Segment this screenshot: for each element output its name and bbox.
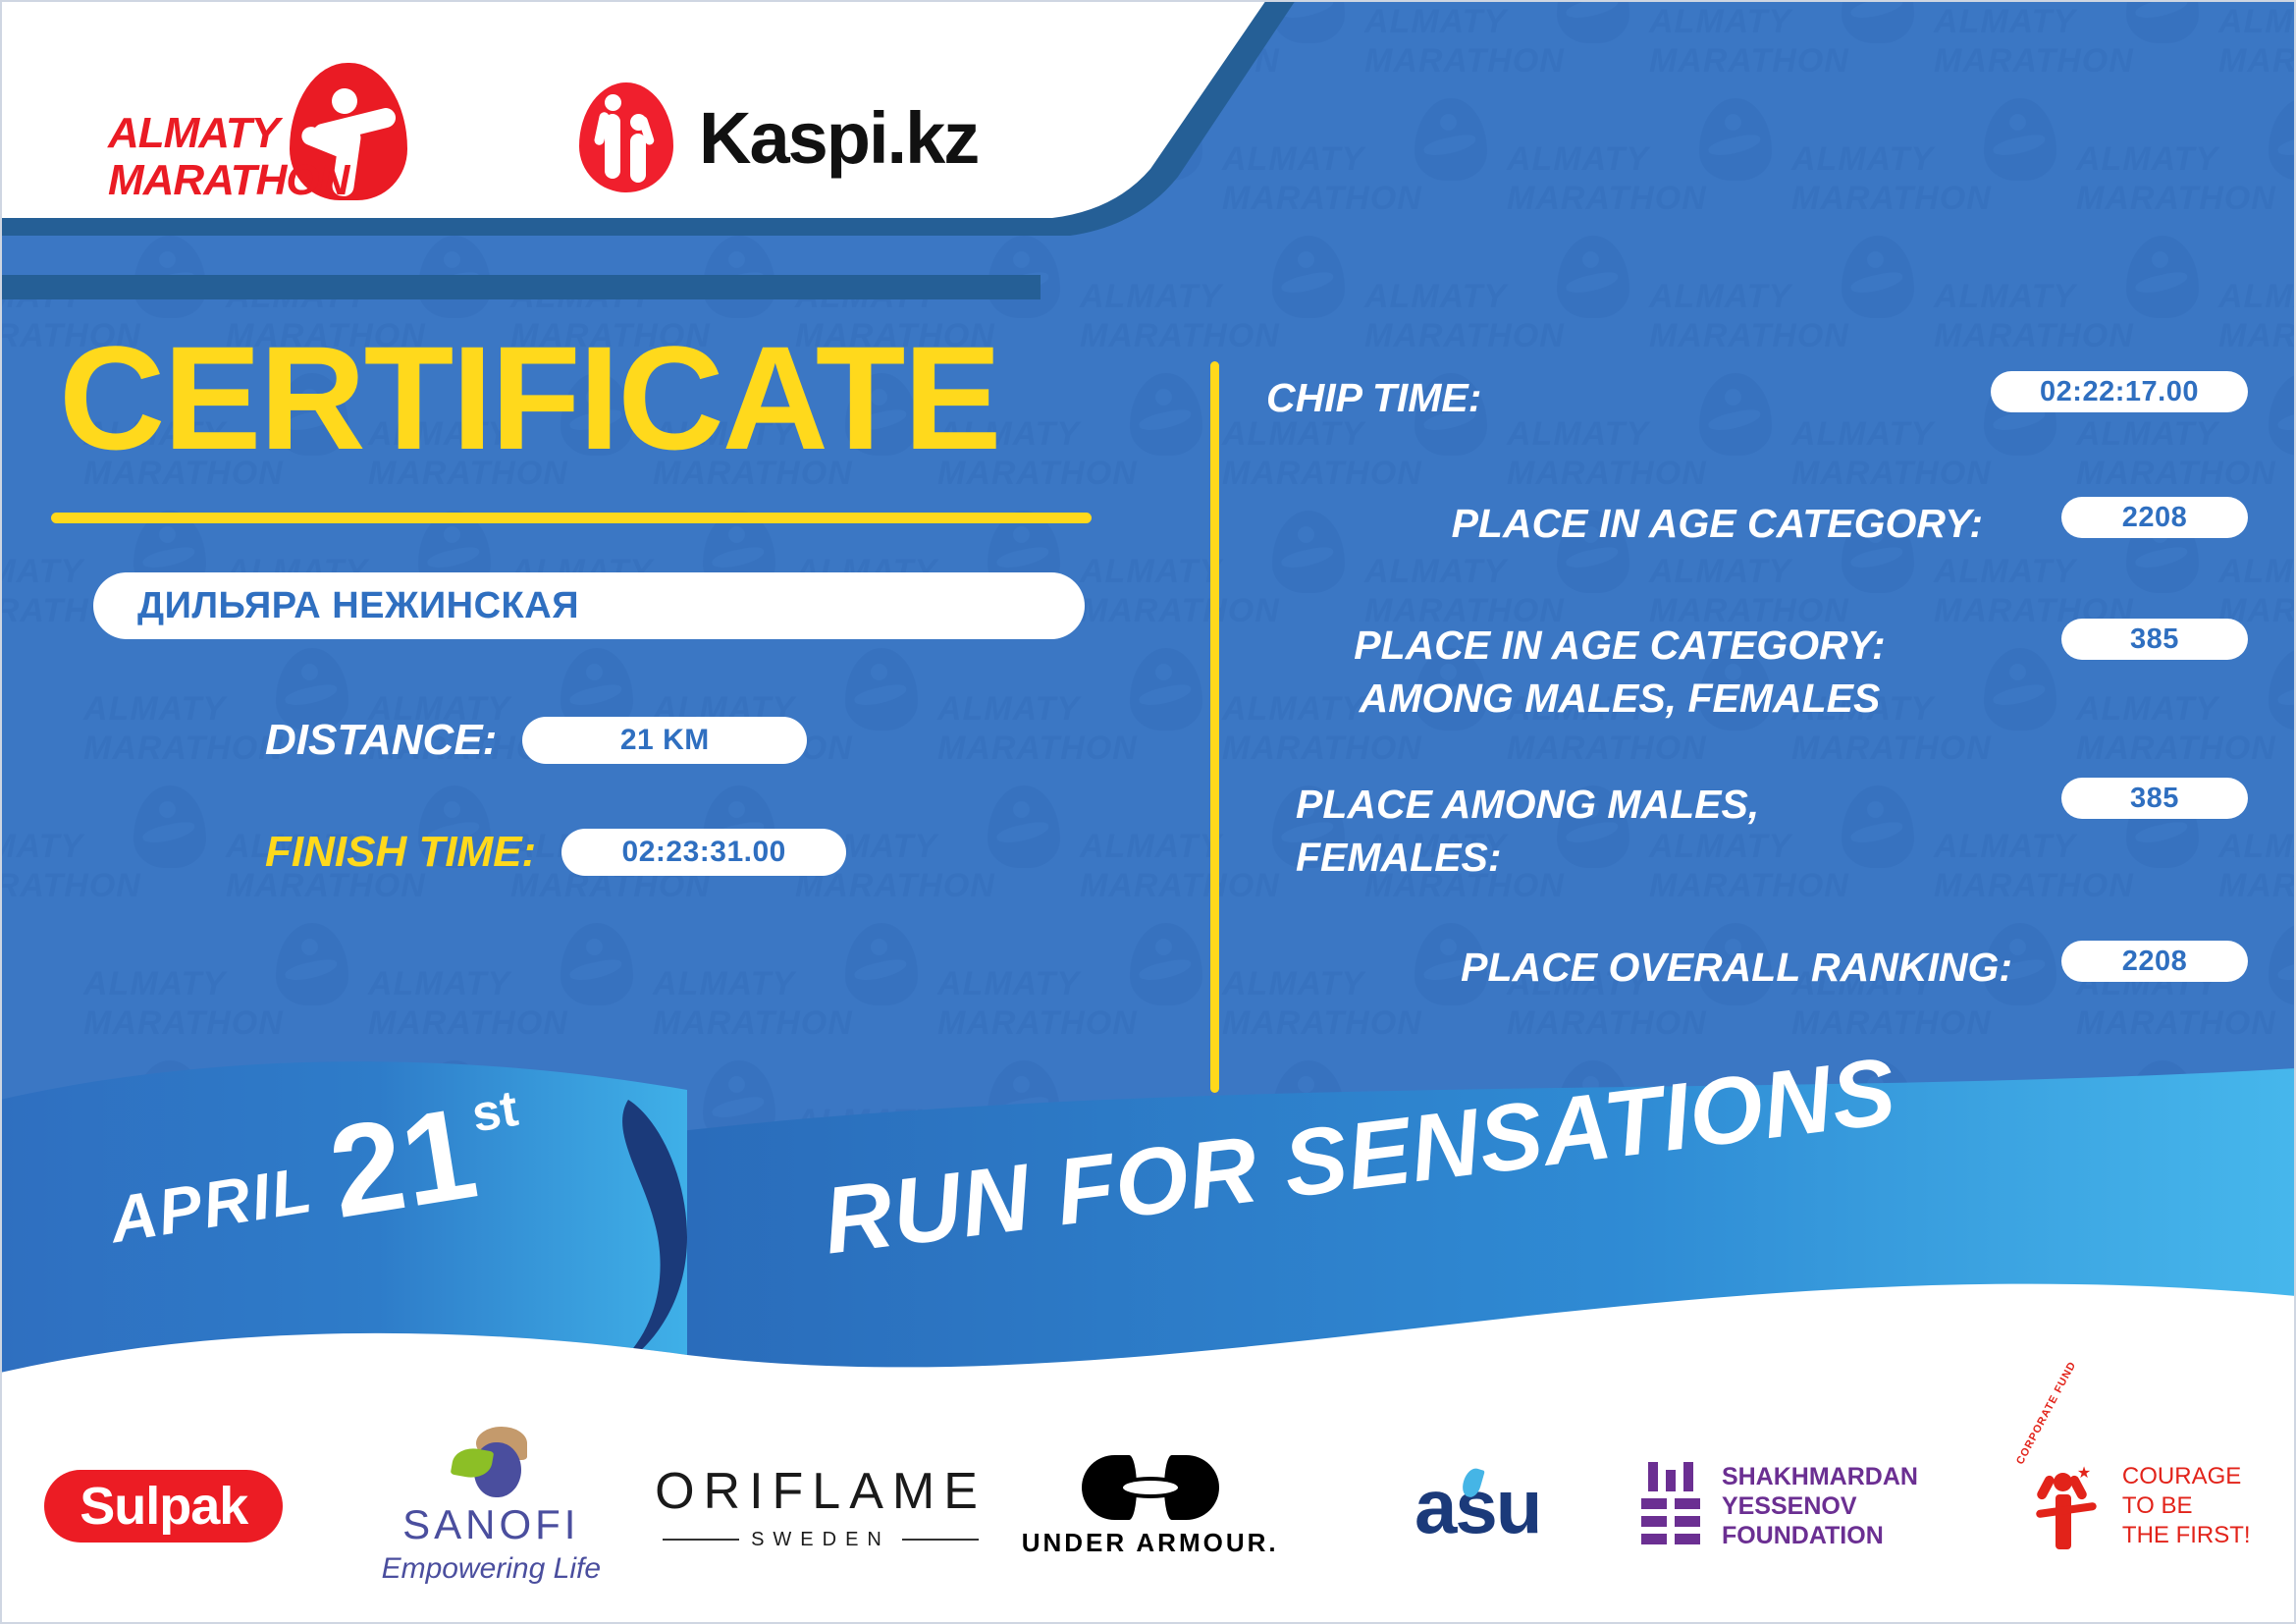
vertical-divider bbox=[1210, 361, 1219, 1093]
almaty-marathon-wordmark: ALMATY MARATHON bbox=[108, 110, 348, 204]
courage-line2: TO BE bbox=[2122, 1491, 2251, 1521]
almaty-marathon-line2: MARATHON bbox=[108, 157, 348, 204]
watermark-tile: ALMATYMARATHON bbox=[1934, 236, 2228, 383]
certificate-page: ALMATYMARATHONALMATYMARATHONALMATYMARATH… bbox=[0, 0, 2296, 1624]
chip-time-value: 02:22:17.00 bbox=[2040, 376, 2199, 408]
place-among-gender-value-pill: 385 bbox=[2061, 778, 2248, 819]
watermark-tile: ALMATYMARATHON bbox=[1791, 98, 2086, 245]
sponsor-sulpak: Sulpak bbox=[0, 1470, 328, 1543]
stat-row: PLACE IN AGE CATEGORY:AMONG MALES, FEMAL… bbox=[1266, 619, 2248, 727]
courage-line3: THE FIRST! bbox=[2122, 1521, 2251, 1550]
watermark-tile: ALMATYMARATHON bbox=[83, 923, 378, 1070]
sanofi-wordmark: SANOFI bbox=[382, 1501, 601, 1548]
place-among-gender-label: PLACE AMONG MALES,FEMALES: bbox=[1296, 778, 1845, 884]
watermark-tile: ALMATYMARATHON bbox=[2218, 236, 2296, 383]
place-among-gender-value: 385 bbox=[2130, 783, 2179, 815]
chip-time-label: CHIP TIME: bbox=[1266, 371, 1855, 424]
under-armour-wordmark: UNDER ARMOUR. bbox=[1022, 1528, 1279, 1558]
watermark-tile: ALMATYMARATHON bbox=[1934, 0, 2228, 108]
watermark-tile: ALMATYMARATHON bbox=[1649, 0, 1944, 108]
stat-row: PLACE IN AGE CATEGORY: 2208 bbox=[1266, 497, 2248, 562]
watermark-tile: ALMATYMARATHON bbox=[937, 923, 1232, 1070]
yessenov-line2: FOUNDATION bbox=[1722, 1521, 1969, 1550]
place-age-category-gender-value: 385 bbox=[2130, 623, 2179, 656]
sponsor-bar: Sulpak SANOFI Empowering Life ORIFLAME S… bbox=[0, 1388, 2296, 1624]
sponsor-under-armour: UNDER ARMOUR. bbox=[987, 1455, 1314, 1558]
watermark-tile: ALMATYMARATHON bbox=[653, 923, 947, 1070]
chip-time-value-pill: 02:22:17.00 bbox=[1991, 371, 2248, 412]
left-column: CERTIFICATE ДИЛЬЯРА НЕЖИНСКАЯ DISTANCE: … bbox=[0, 324, 1168, 883]
finish-time-label: FINISH TIME: bbox=[265, 828, 536, 877]
title-underline bbox=[51, 513, 1092, 523]
oriflame-subtext: SWEDEN bbox=[751, 1529, 890, 1551]
logo-bar: ALMATY MARATHON Kaspi.kz bbox=[0, 0, 1178, 275]
stats-column: CHIP TIME: 02:22:17.00 PLACE IN AGE CATE… bbox=[1266, 371, 2248, 1053]
under-armour-icon bbox=[1082, 1455, 1219, 1520]
yessenov-mark-icon bbox=[1641, 1462, 1700, 1551]
watermark-tile: ALMATYMARATHON bbox=[1364, 0, 1659, 108]
watermark-tile: ALMATYMARATHON bbox=[2218, 0, 2296, 108]
yessenov-line1: SHAKHMARDAN YESSENOV bbox=[1722, 1462, 1969, 1521]
sponsor-courage-fund: CORPORATE FUND ★ COURAGE TO BE THE FIRST… bbox=[1968, 1455, 2296, 1557]
watermark-tile: ALMATYMARATHON bbox=[2076, 98, 2296, 245]
asu-wordmark: asu bbox=[1415, 1462, 1540, 1551]
oriflame-rule-right bbox=[902, 1539, 979, 1541]
athlete-name-value: ДИЛЬЯРА НЕЖИНСКАЯ bbox=[137, 585, 579, 627]
kaspi-wordmark: Kaspi.kz bbox=[699, 96, 978, 180]
sponsor-sanofi: SANOFI Empowering Life bbox=[328, 1427, 656, 1586]
athlete-name-field: ДИЛЬЯРА НЕЖИНСКАЯ bbox=[93, 572, 1085, 639]
page-title: CERTIFICATE bbox=[59, 324, 1168, 471]
header-bottom-stripe bbox=[0, 275, 1041, 299]
distance-row: DISTANCE: 21 KM bbox=[0, 710, 1168, 771]
watermark-tile: ALMATYMARATHON bbox=[1507, 98, 1801, 245]
kaspi-logo: Kaspi.kz bbox=[579, 82, 978, 192]
place-overall-label: PLACE OVERALL RANKING: bbox=[1266, 941, 2012, 994]
watermark-tile: ALMATYMARATHON bbox=[1364, 236, 1659, 383]
sponsor-yessenov-foundation: SHAKHMARDAN YESSENOV FOUNDATION bbox=[1641, 1462, 1969, 1551]
sponsor-oriflame: ORIFLAME SWEDEN bbox=[655, 1462, 987, 1551]
oriflame-rule-left bbox=[663, 1539, 739, 1541]
event-day: 21 bbox=[324, 1099, 483, 1228]
sponsor-asu: asu bbox=[1313, 1462, 1641, 1551]
distance-value: 21 KM bbox=[620, 724, 710, 757]
place-age-category-label: PLACE IN AGE CATEGORY: bbox=[1266, 497, 1983, 550]
place-overall-value: 2208 bbox=[2122, 946, 2188, 978]
watermark-tile: ALMATYMARATHON bbox=[1649, 236, 1944, 383]
courage-figure-icon: CORPORATE FUND ★ bbox=[2014, 1455, 2109, 1557]
almaty-marathon-line1: ALMATY bbox=[108, 110, 348, 157]
distance-label: DISTANCE: bbox=[265, 716, 497, 765]
place-age-category-value: 2208 bbox=[2122, 502, 2188, 534]
stat-row: CHIP TIME: 02:22:17.00 bbox=[1266, 371, 2248, 436]
stat-row: PLACE OVERALL RANKING: 2208 bbox=[1266, 941, 2248, 1005]
sanofi-slogan: Empowering Life bbox=[382, 1552, 601, 1586]
finish-time-row: FINISH TIME: 02:23:31.00 bbox=[0, 822, 1168, 883]
stat-row: PLACE AMONG MALES,FEMALES: 385 bbox=[1266, 778, 2248, 886]
place-overall-value-pill: 2208 bbox=[2061, 941, 2248, 982]
place-age-category-gender-label: PLACE IN AGE CATEGORY:AMONG MALES, FEMAL… bbox=[1266, 619, 1973, 725]
finish-time-value-pill: 02:23:31.00 bbox=[561, 829, 846, 876]
courage-line1: COURAGE bbox=[2122, 1462, 2251, 1491]
watermark-tile: ALMATYMARATHON bbox=[368, 923, 663, 1070]
kaspi-drop-icon bbox=[579, 82, 673, 192]
place-age-category-gender-value-pill: 385 bbox=[2061, 619, 2248, 660]
almaty-marathon-logo: ALMATY MARATHON bbox=[108, 59, 432, 216]
distance-value-pill: 21 KM bbox=[522, 717, 807, 764]
sulpak-wordmark: Sulpak bbox=[44, 1470, 283, 1543]
finish-time-value: 02:23:31.00 bbox=[622, 836, 786, 869]
oriflame-wordmark: ORIFLAME bbox=[655, 1462, 987, 1521]
sanofi-mark-icon bbox=[449, 1427, 533, 1497]
place-age-category-value-pill: 2208 bbox=[2061, 497, 2248, 538]
